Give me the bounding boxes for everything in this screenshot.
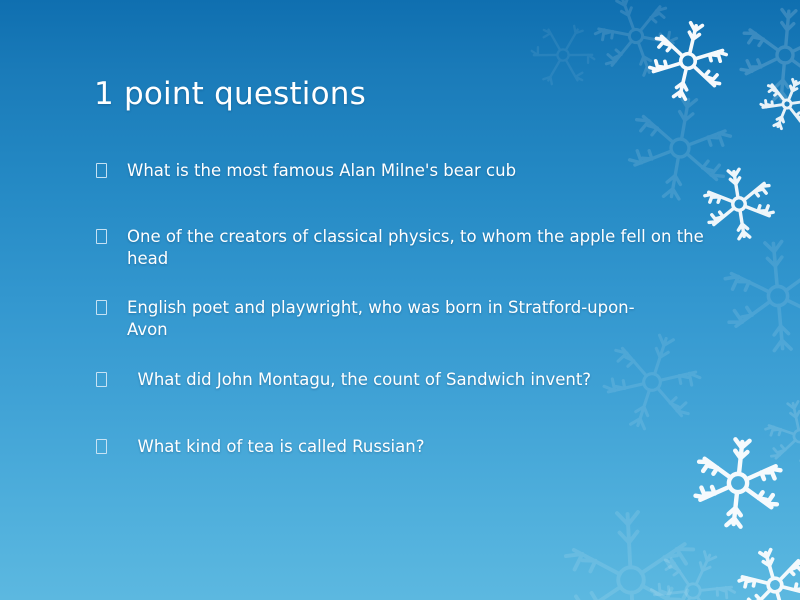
missing-glyph-bullet-icon [96, 439, 107, 454]
question-list: What is the most famous Alan Milne's bea… [96, 160, 721, 458]
snowflake-icon [552, 501, 710, 600]
list-item-label: What kind of tea is called Russian? [127, 436, 721, 458]
missing-glyph-bullet-icon [96, 163, 107, 178]
missing-glyph-bullet-icon [96, 300, 107, 315]
snowflake-icon [713, 231, 800, 361]
snowflake-icon [726, 536, 800, 600]
list-item: One of the creators of classical physics… [96, 226, 721, 270]
list-item: English poet and playwright, who was bor… [96, 297, 656, 341]
presentation-slide: 1 point questions What is the most famou… [0, 0, 800, 600]
list-item: What kind of tea is called Russian? [96, 436, 721, 458]
list-item: What did John Montagu, the count of Sand… [96, 369, 721, 391]
snowflake-icon [633, 531, 753, 600]
list-item-label: What is the most famous Alan Milne's bea… [127, 160, 721, 182]
slide-title: 1 point questions [94, 76, 734, 114]
snowflake-icon [731, 1, 800, 109]
list-item-label: What did John Montagu, the count of Sand… [127, 369, 721, 391]
missing-glyph-bullet-icon [96, 372, 107, 387]
list-item-label: English poet and playwright, who was bor… [127, 297, 656, 341]
list-item: What is the most famous Alan Milne's bea… [96, 160, 721, 182]
snowflake-icon [755, 391, 800, 481]
snowflake-icon [749, 66, 800, 142]
missing-glyph-bullet-icon [96, 229, 107, 244]
list-item-label: One of the creators of classical physics… [127, 226, 721, 270]
